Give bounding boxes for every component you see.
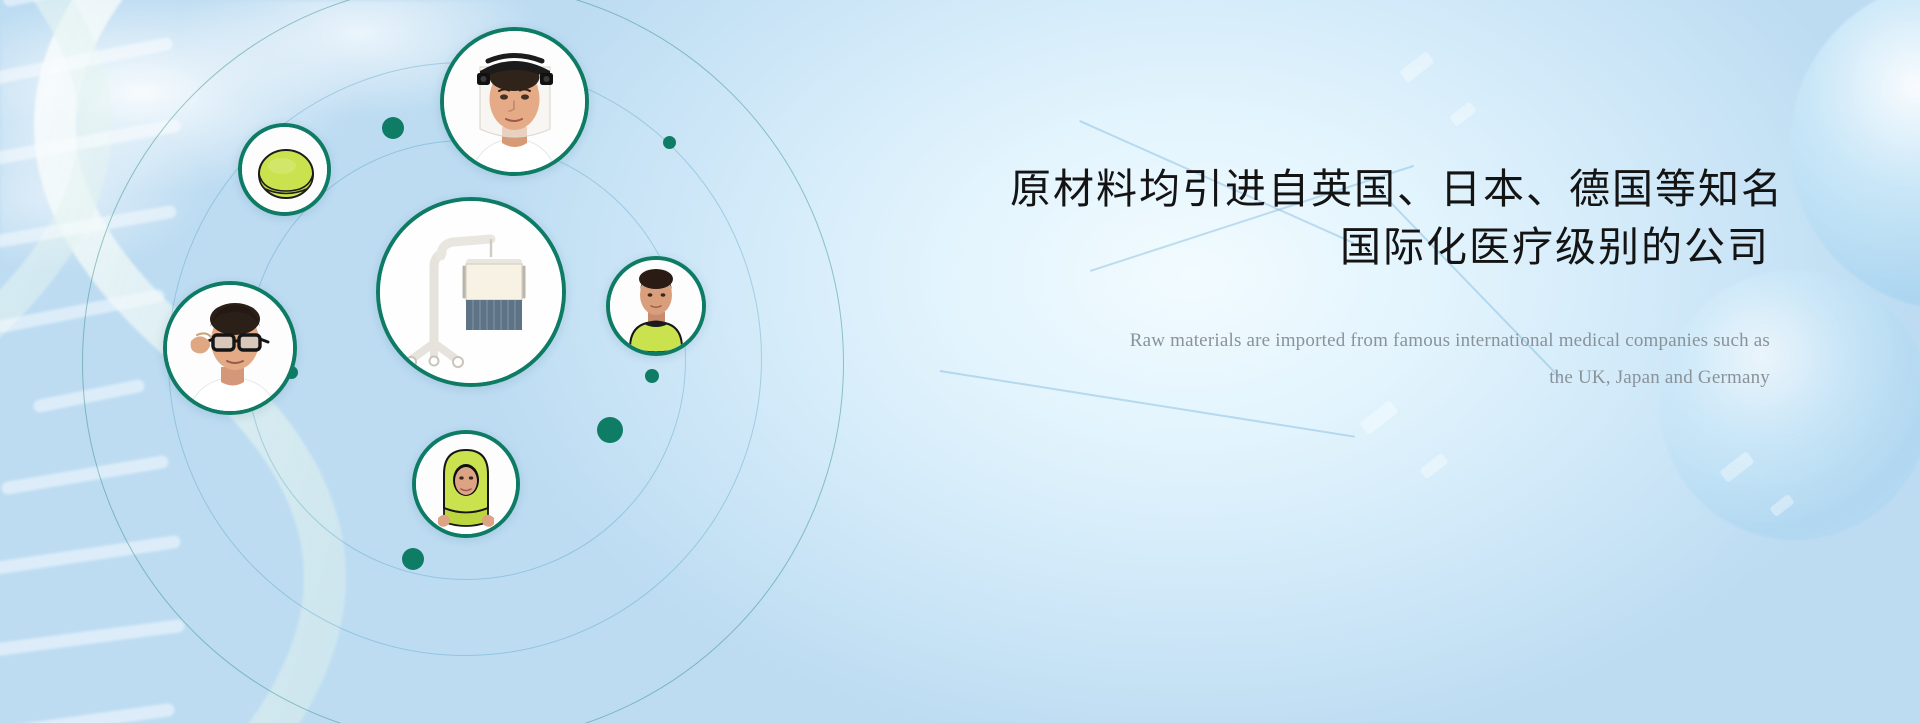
banner-stage: 原材料均引进自英国、日本、德国等知名 国际化医疗级别的公司 Raw materi…: [0, 0, 1920, 723]
subtitle-line-1: Raw materials are imported from famous i…: [1010, 322, 1770, 359]
product-bubble-mobile-barrier[interactable]: [376, 197, 566, 387]
mobile-barrier-icon: [380, 201, 562, 383]
product-bubble-protective-hood[interactable]: [412, 430, 520, 538]
lead-glasses-icon: [167, 285, 293, 411]
protective-hood-icon: [416, 434, 516, 534]
subtitle-line-2: the UK, Japan and Germany: [1010, 359, 1770, 396]
orbit-dot-1: [382, 117, 404, 139]
product-bubble-thyroid-collar[interactable]: [606, 256, 706, 356]
orbit-dot-4: [645, 369, 659, 383]
product-bubble-lead-glasses[interactable]: [163, 281, 297, 415]
banner-copy: 原材料均引进自英国、日本、德国等知名 国际化医疗级别的公司 Raw materi…: [1010, 160, 1770, 397]
subtitle: Raw materials are imported from famous i…: [1010, 322, 1770, 396]
headline-line-1: 原材料均引进自英国、日本、德国等知名: [1010, 160, 1770, 218]
protective-cap-icon: [242, 127, 327, 212]
headline-line-2: 国际化医疗级别的公司: [1010, 218, 1770, 276]
orbit-dot-2: [663, 136, 676, 149]
thyroid-collar-icon: [610, 260, 702, 352]
face-shield-icon: [444, 31, 585, 172]
orbit-dot-5: [597, 417, 623, 443]
product-bubble-face-shield[interactable]: [440, 27, 589, 176]
product-bubble-protective-cap[interactable]: [238, 123, 331, 216]
orbit-dot-6: [402, 548, 424, 570]
